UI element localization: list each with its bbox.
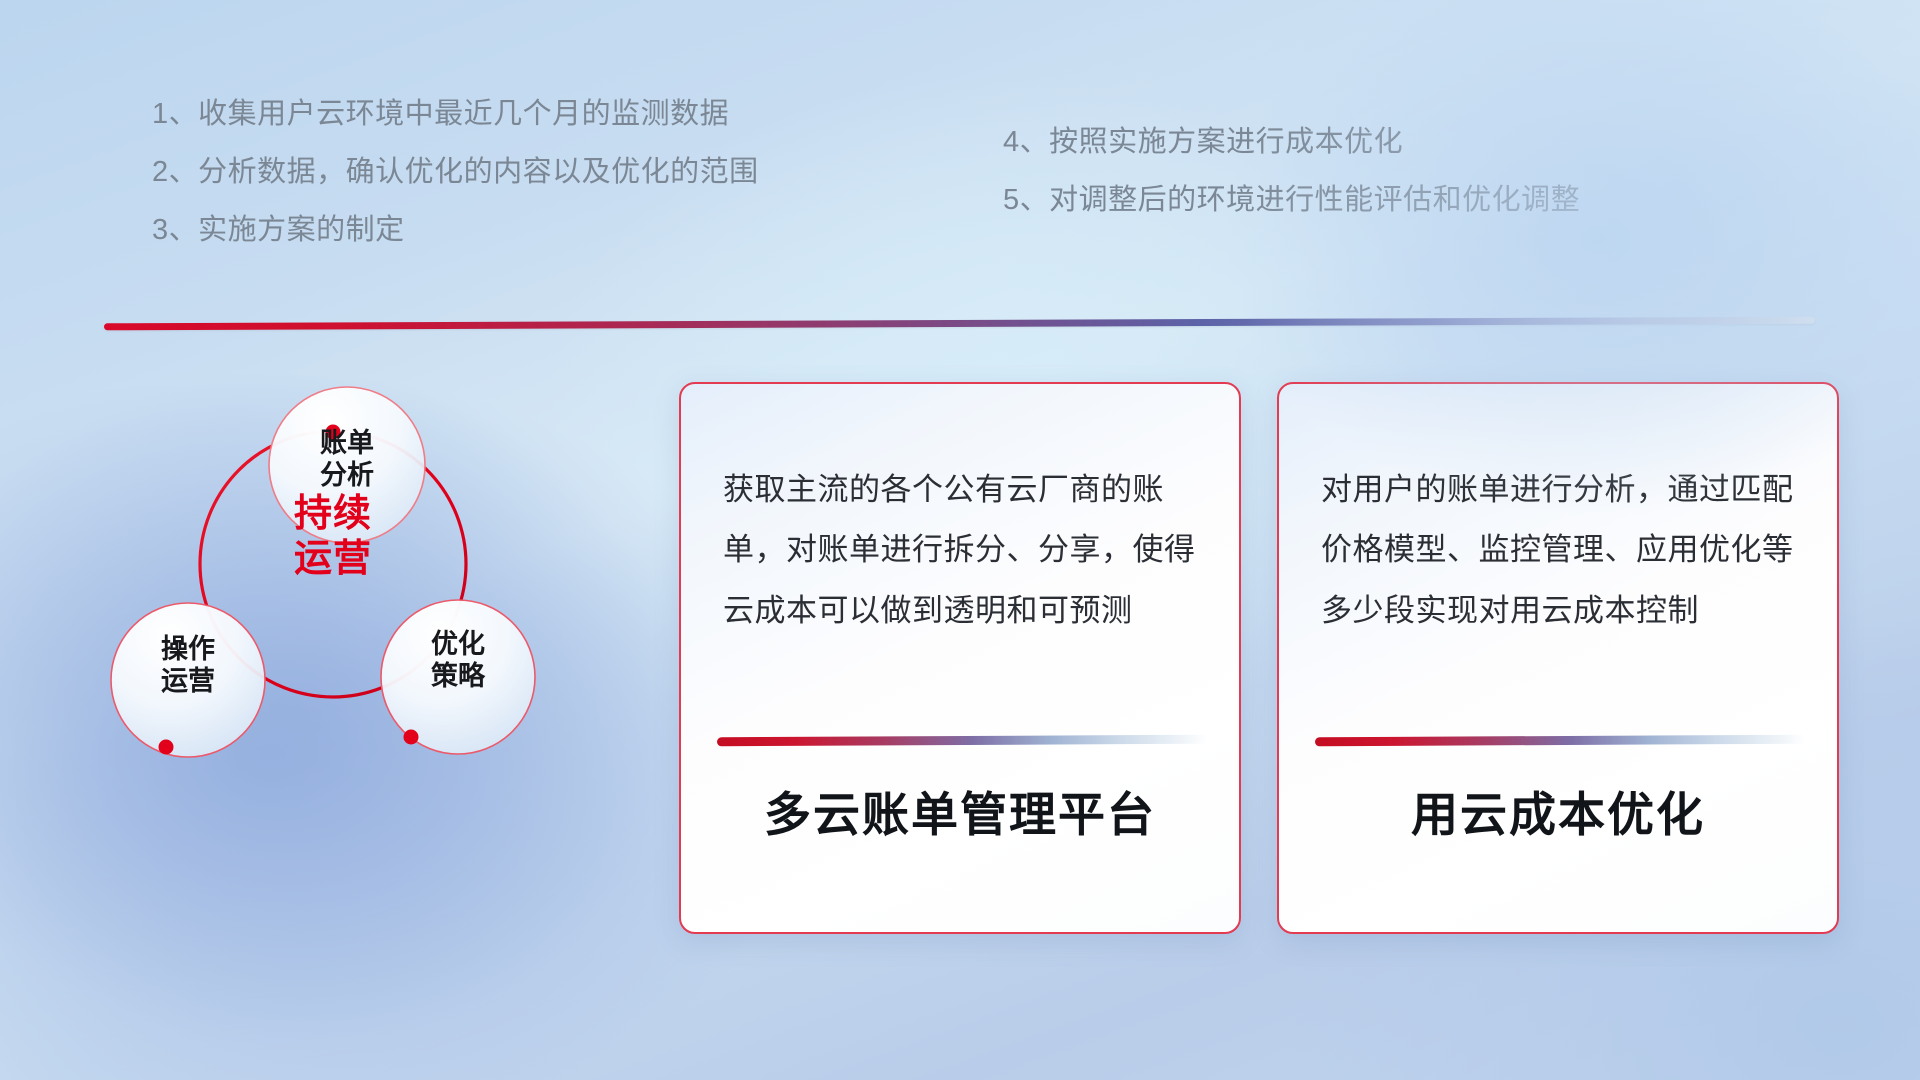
slide-canvas: 1、收集用户云环境中最近几个月的监测数据 2、分析数据，确认优化的内容以及优化的… <box>0 0 1920 1080</box>
diagram-label-strategy-line2: 策略 <box>403 661 513 693</box>
card-1-accent-rule <box>717 735 1207 747</box>
diagram-label-billing-line2: 分析 <box>292 460 402 492</box>
diagram-label-center-line2: 运营 <box>253 537 413 582</box>
diagram-label-operation: 操作 运营 <box>133 634 243 698</box>
feature-card-cost-optimization[interactable]: 对用户的账单进行分析，通过匹配价格模型、监控管理、应用优化等多少段实现对用云成本… <box>1277 382 1839 934</box>
step-item-3: 3、实施方案的制定 <box>152 216 759 245</box>
diagram-svg <box>70 355 590 815</box>
diagram-label-center-line1: 持续 <box>253 492 413 537</box>
continuous-operation-diagram: 账单 分析 持续 运营 操作 运营 优化 策略 <box>70 355 590 815</box>
diagram-label-billing-line1: 账单 <box>292 428 402 460</box>
diagram-label-strategy: 优化 策略 <box>403 629 513 693</box>
diagram-label-operation-line2: 运营 <box>133 666 243 698</box>
section-divider <box>104 317 1815 331</box>
steps-list-right: 4、按照实施方案进行成本优化 5、对调整后的环境进行性能评估和优化调整 <box>1003 128 1580 244</box>
steps-list-left: 1、收集用户云环境中最近几个月的监测数据 2、分析数据，确认优化的内容以及优化的… <box>152 100 759 274</box>
card-1-title: 多云账单管理平台 <box>681 776 1239 845</box>
step-item-4: 4、按照实施方案进行成本优化 <box>1003 128 1580 157</box>
feature-card-multi-cloud-billing[interactable]: 获取主流的各个公有云厂商的账单，对账单进行拆分、分享，使得云成本可以做到透明和可… <box>679 382 1241 934</box>
diagram-label-operation-line1: 操作 <box>133 634 243 666</box>
card-1-description: 获取主流的各个公有云厂商的账单，对账单进行拆分、分享，使得云成本可以做到透明和可… <box>723 460 1205 641</box>
card-2-title: 用云成本优化 <box>1279 776 1837 845</box>
step-item-2: 2、分析数据，确认优化的内容以及优化的范围 <box>152 158 759 187</box>
diagram-label-center: 持续 运营 <box>253 492 413 582</box>
step-item-5: 5、对调整后的环境进行性能评估和优化调整 <box>1003 186 1580 215</box>
diagram-label-billing: 账单 分析 <box>292 428 402 492</box>
connector-dot-right <box>404 730 419 745</box>
diagram-label-strategy-line1: 优化 <box>403 629 513 661</box>
card-2-accent-rule <box>1315 735 1805 747</box>
connector-dot-left <box>159 740 174 755</box>
card-2-description: 对用户的账单进行分析，通过匹配价格模型、监控管理、应用优化等多少段实现对用云成本… <box>1321 460 1803 641</box>
step-item-1: 1、收集用户云环境中最近几个月的监测数据 <box>152 100 759 129</box>
